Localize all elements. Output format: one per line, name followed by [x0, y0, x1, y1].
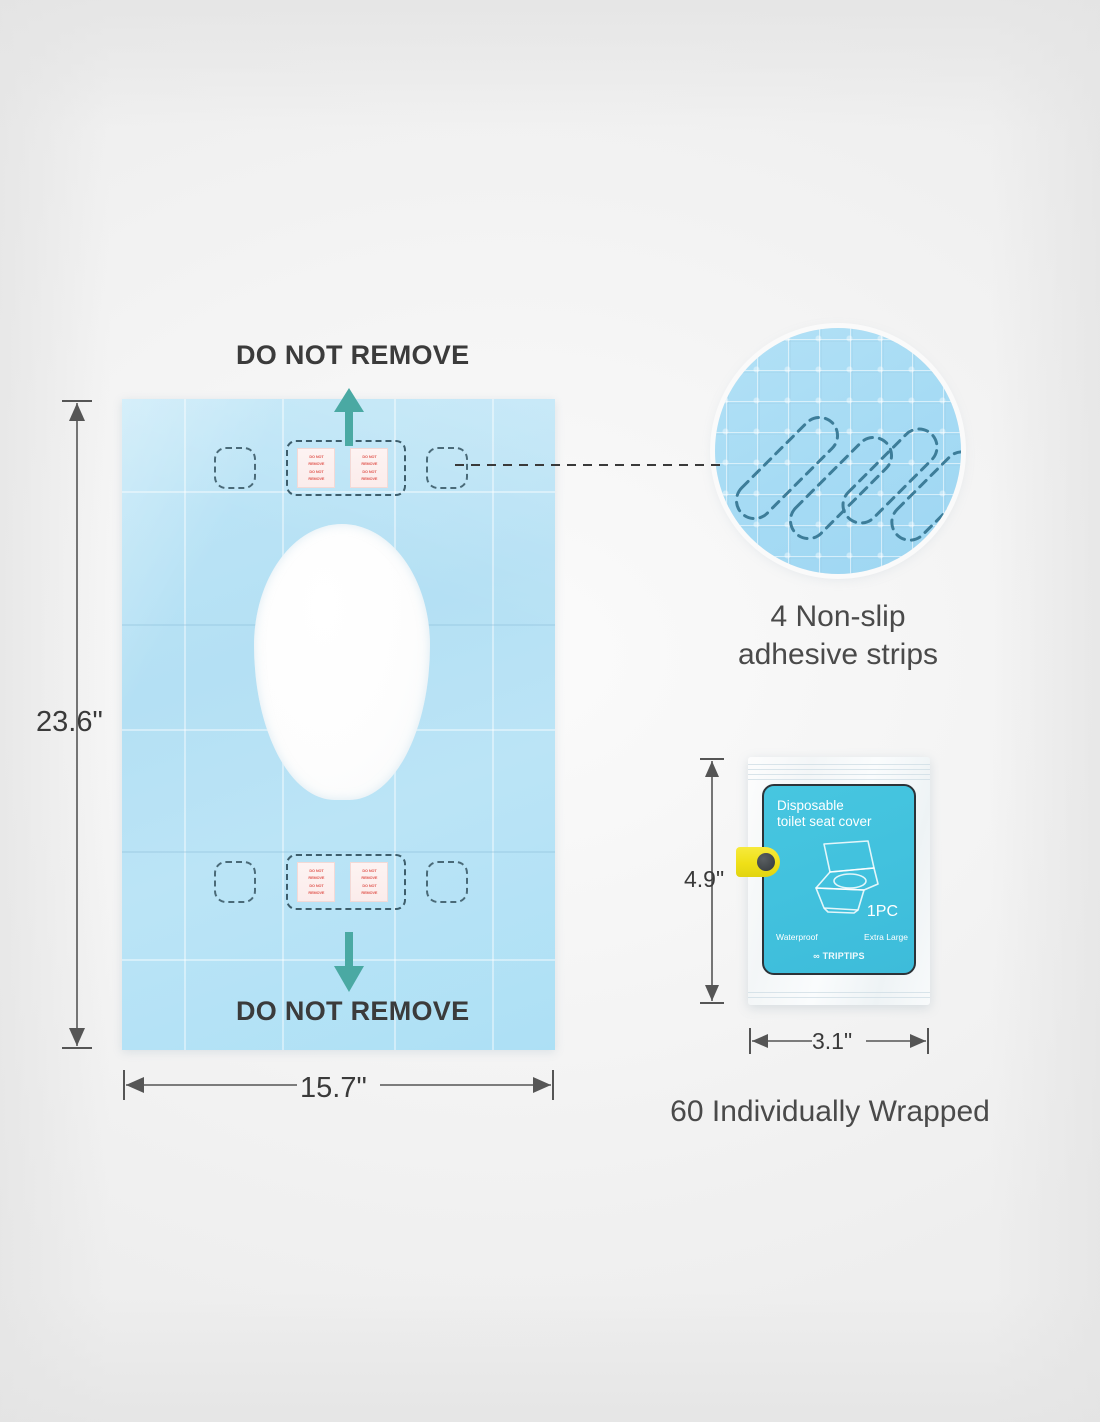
- sticker-line-4: REMOVE: [308, 891, 324, 895]
- product-packet: Disposable toilet seat cover 1PC Waterpr…: [748, 757, 930, 1005]
- crease-line: [122, 851, 555, 853]
- individually-wrapped-caption: 60 Individually Wrapped: [600, 1093, 1060, 1131]
- packet-quantity: 1PC: [867, 903, 898, 921]
- packet-features: Waterproof Extra Large: [776, 932, 908, 942]
- film-ridge: [748, 769, 930, 770]
- sticker-line-3: DO NOT: [309, 884, 323, 888]
- do-not-remove-sticker: DO NOT REMOVE DO NOT REMOVE: [297, 448, 335, 488]
- sticker-line-4: REMOVE: [308, 477, 324, 481]
- callout-connector-line: [455, 452, 725, 478]
- adhesive-caption-line-2: adhesive strips: [638, 636, 1038, 674]
- height-dimension-label: 23.6": [36, 706, 103, 739]
- sticker-line-3: DO NOT: [362, 884, 376, 888]
- sticker-line-2: REMOVE: [361, 462, 377, 466]
- film-ridge: [748, 779, 930, 780]
- adhesive-strip-zone-top-left: [214, 447, 256, 489]
- brand-name: TRIPTIPS: [823, 951, 865, 961]
- adhesive-strip-zone-bottom-left: [214, 861, 256, 903]
- packet-height-dimension-label: 4.9": [684, 866, 724, 893]
- do-not-remove-sticker: DO NOT REMOVE DO NOT REMOVE: [350, 448, 388, 488]
- adhesive-strip-outlines: [715, 328, 961, 574]
- sticker-line-3: DO NOT: [309, 470, 323, 474]
- sticker-line-4: REMOVE: [361, 477, 377, 481]
- film-ridge: [748, 764, 930, 765]
- packet-cyan-label: Disposable toilet seat cover 1PC Waterpr…: [762, 784, 916, 975]
- packet-feature-extra-large: Extra Large: [864, 932, 908, 942]
- sticker-line-1: DO NOT: [309, 869, 323, 873]
- do-not-remove-sticker: DO NOT REMOVE DO NOT REMOVE: [350, 862, 388, 902]
- do-not-remove-label-bottom: DO NOT REMOVE: [236, 996, 469, 1027]
- film-ridge: [748, 997, 930, 998]
- packet-brand-logo: ∞ TRIPTIPS: [764, 951, 914, 961]
- packet-tab-dot-icon: [757, 853, 775, 871]
- adhesive-strip-zone-bottom-right: [426, 861, 468, 903]
- sticker-line-1: DO NOT: [309, 455, 323, 459]
- infinity-icon: ∞: [813, 951, 822, 961]
- sticker-line-1: DO NOT: [362, 869, 376, 873]
- packet-title-line-2: toilet seat cover: [777, 814, 909, 830]
- packet-feature-waterproof: Waterproof: [776, 932, 818, 942]
- adhesive-strips-magnifier: [715, 328, 961, 574]
- up-arrow-icon: [331, 386, 367, 446]
- sticker-line-4: REMOVE: [361, 891, 377, 895]
- sticker-line-3: DO NOT: [362, 470, 376, 474]
- infographic-canvas: DO NOT REMOVE DO NOT REMOVE DO NOT REMOV…: [0, 0, 1100, 1422]
- film-ridge: [748, 992, 930, 993]
- adhesive-caption-line-1: 4 Non-slip: [638, 598, 1038, 636]
- down-arrow-icon: [331, 932, 367, 994]
- sticker-line-2: REMOVE: [308, 876, 324, 880]
- width-dimension-label: 15.7": [300, 1072, 367, 1105]
- packet-yellow-tab: [736, 847, 780, 877]
- do-not-remove-label-top: DO NOT REMOVE: [236, 340, 469, 371]
- do-not-remove-sticker: DO NOT REMOVE DO NOT REMOVE: [297, 862, 335, 902]
- seat-opening-cutout: [254, 524, 430, 800]
- adhesive-strips-caption: 4 Non-slip adhesive strips: [638, 598, 1038, 673]
- crease-line: [184, 399, 186, 1050]
- sticker-line-2: REMOVE: [308, 462, 324, 466]
- crease-line: [492, 399, 494, 1050]
- sticker-line-1: DO NOT: [362, 455, 376, 459]
- packet-title-line-1: Disposable: [777, 798, 909, 814]
- packet-title: Disposable toilet seat cover: [777, 798, 909, 831]
- film-ridge: [748, 774, 930, 775]
- packet-width-dimension-label: 3.1": [812, 1028, 852, 1055]
- sticker-line-2: REMOVE: [361, 876, 377, 880]
- packet-clear-film: Disposable toilet seat cover 1PC Waterpr…: [748, 757, 930, 1005]
